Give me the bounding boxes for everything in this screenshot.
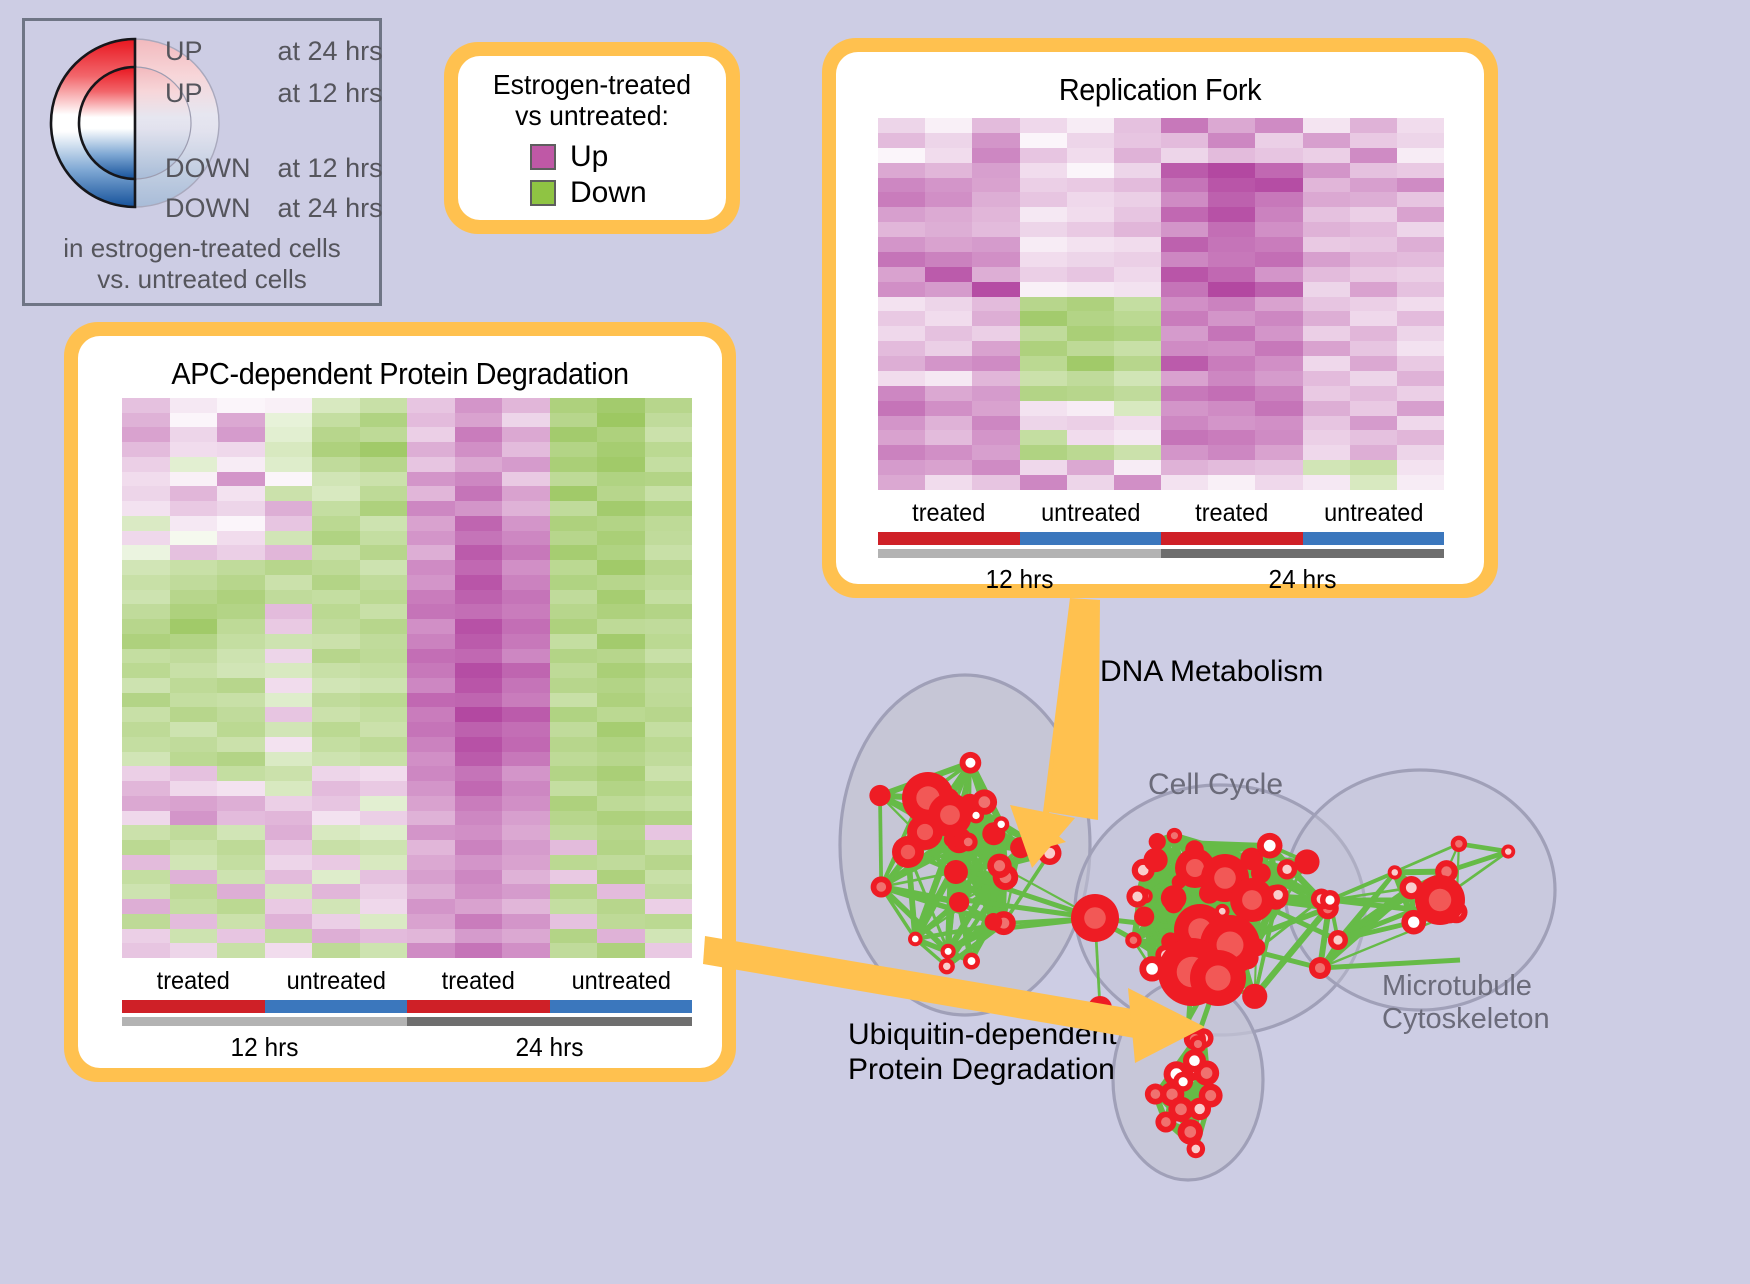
heatmap-cell <box>217 398 265 413</box>
heatmap-cell <box>550 752 598 767</box>
heatmap-cell <box>1350 311 1397 326</box>
network-node-core <box>1333 935 1342 944</box>
heatmap-cell <box>878 356 925 371</box>
heatmap-cell <box>925 118 972 133</box>
heatmap-cell <box>972 341 1019 356</box>
heatmap-cell <box>550 884 598 899</box>
heatmap-cell <box>407 531 455 546</box>
heatmap-cell <box>265 899 313 914</box>
heatmap-cell <box>455 634 503 649</box>
heatmap-cell <box>1161 430 1208 445</box>
heatmap-cell <box>217 649 265 664</box>
heatmap-cell <box>170 545 218 560</box>
heatmap-cell <box>312 707 360 722</box>
heatmap-cell <box>1208 475 1255 490</box>
network-node <box>944 860 968 884</box>
heatmap-cell <box>407 707 455 722</box>
heatmap-cell <box>1020 371 1067 386</box>
heatmap-cell <box>407 575 455 590</box>
heatmap-cell <box>1397 252 1444 267</box>
heatmap-cell <box>1067 207 1114 222</box>
network-node-core <box>1171 832 1178 839</box>
heatmap-cell <box>1397 460 1444 475</box>
heatmap-cell <box>645 545 693 560</box>
heatmap-cell <box>1397 118 1444 133</box>
heatmap-cell <box>925 192 972 207</box>
network-node-core <box>1406 882 1417 893</box>
heatmap-cell <box>550 442 598 457</box>
heatmap-cell <box>265 707 313 722</box>
heatmap-cell <box>597 472 645 487</box>
key-time-label: at 12 hrs <box>278 78 383 108</box>
time-24hrs-bar-segment <box>1161 549 1444 558</box>
network-node-core <box>994 860 1005 871</box>
heatmap-cell <box>1020 445 1067 460</box>
heatmap-cell <box>265 722 313 737</box>
heatmap-cell <box>597 590 645 605</box>
replication-fork-panel: Replication Fork treated untreated treat… <box>822 38 1498 598</box>
heatmap-cell <box>407 766 455 781</box>
heatmap-cell <box>407 840 455 855</box>
heatmap-cell <box>455 781 503 796</box>
heatmap-cell <box>550 634 598 649</box>
replication-fork-treatment-bar <box>878 532 1444 545</box>
heatmap-cell <box>265 649 313 664</box>
heatmap-cell <box>597 943 645 958</box>
heatmap-cell <box>597 693 645 708</box>
heatmap-cell <box>455 707 503 722</box>
heatmap-cell <box>502 825 550 840</box>
apc-panel-inner: APC-dependent Protein Degradation treate… <box>78 336 722 1068</box>
heatmap-cell <box>597 722 645 737</box>
heatmap-cell <box>878 326 925 341</box>
heatmap-cell <box>455 884 503 899</box>
heatmap-cell <box>360 752 408 767</box>
heatmap-cell <box>1067 163 1114 178</box>
heatmap-cell <box>360 722 408 737</box>
heatmap-cell <box>645 398 693 413</box>
heatmap-cell <box>265 943 313 958</box>
heatmap-cell <box>645 870 693 885</box>
network-node-core <box>1273 890 1283 900</box>
replication-fork-group-labels: treated untreated treated untreated <box>878 499 1444 528</box>
heatmap-cell <box>407 472 455 487</box>
heatmap-cell <box>645 413 693 428</box>
heatmap-cell <box>597 811 645 826</box>
heatmap-cell <box>1303 222 1350 237</box>
time-label: 12 hrs <box>131 1032 399 1063</box>
heatmap-cell <box>1114 252 1161 267</box>
heatmap-cell <box>1067 267 1114 282</box>
heatmap-cell <box>550 413 598 428</box>
heatmap-cell <box>1020 148 1067 163</box>
heatmap-cell <box>597 501 645 516</box>
heatmap-cell <box>1161 163 1208 178</box>
network-node-core <box>1429 889 1452 912</box>
heatmap-cell <box>217 560 265 575</box>
heatmap-cell <box>550 427 598 442</box>
heatmap-cell <box>1114 163 1161 178</box>
heatmap-cell <box>217 840 265 855</box>
heatmap-cell <box>360 575 408 590</box>
heatmap-cell <box>170 855 218 870</box>
heatmap-cell <box>878 178 925 193</box>
apc-treatment-bar <box>122 1000 692 1013</box>
heatmap-cell <box>1255 430 1302 445</box>
heatmap-cell <box>878 386 925 401</box>
network-node <box>985 913 1003 931</box>
heatmap-cell <box>645 796 693 811</box>
down-color-swatch <box>530 180 556 206</box>
heatmap-cell <box>1303 133 1350 148</box>
heatmap-cell <box>1020 207 1067 222</box>
heatmap-cell <box>1067 252 1114 267</box>
heatmap-cell <box>312 722 360 737</box>
heatmap-cell <box>925 267 972 282</box>
network-node-core <box>1264 840 1276 852</box>
heatmap-cell <box>122 590 170 605</box>
heatmap-cell <box>312 943 360 958</box>
heatmap-cell <box>972 356 1019 371</box>
heatmap-cell <box>1020 237 1067 252</box>
heatmap-cell <box>645 427 693 442</box>
network-node <box>1242 984 1267 1009</box>
heatmap-cell <box>170 619 218 634</box>
key-direction-label: DOWN <box>165 153 270 184</box>
heatmap-cell <box>1303 267 1350 282</box>
heatmap-cell <box>1161 192 1208 207</box>
heatmap-cell <box>122 870 170 885</box>
apc-time-bar <box>122 1017 692 1026</box>
heatmap-cell <box>455 427 503 442</box>
heatmap-cell <box>597 634 645 649</box>
heatmap-cell <box>360 486 408 501</box>
network-node <box>1088 996 1112 1020</box>
heatmap-cell <box>1397 148 1444 163</box>
heatmap-cell <box>502 575 550 590</box>
heatmap-cell <box>312 590 360 605</box>
heatmap-cell <box>1161 148 1208 163</box>
heatmap-cell <box>502 781 550 796</box>
key-direction-label: DOWN <box>165 193 270 224</box>
network-node-core <box>1205 965 1230 990</box>
heatmap-cell <box>1350 430 1397 445</box>
heatmap-cell <box>122 825 170 840</box>
heatmap-cell <box>597 870 645 885</box>
heatmap-cell <box>1114 416 1161 431</box>
heatmap-cell <box>1208 356 1255 371</box>
heatmap-cell <box>502 678 550 693</box>
heatmap-cell <box>360 501 408 516</box>
heatmap-cell <box>878 297 925 312</box>
heatmap-cell <box>1208 297 1255 312</box>
heatmap-cell <box>265 811 313 826</box>
heatmap-cell <box>1255 148 1302 163</box>
heatmap-cell <box>645 472 693 487</box>
heatmap-cell <box>925 475 972 490</box>
heatmap-cell <box>1350 237 1397 252</box>
heatmap-cell <box>1350 192 1397 207</box>
heatmap-cell <box>455 722 503 737</box>
heatmap-cell <box>597 825 645 840</box>
heatmap-cell <box>1255 386 1302 401</box>
heatmap-cell <box>645 649 693 664</box>
key-caption: in estrogen-treated cells vs. untreated … <box>25 233 379 294</box>
apc-time-labels: 12 hrs 24 hrs <box>122 1032 692 1063</box>
heatmap-cell <box>1208 460 1255 475</box>
heatmap-cell <box>1255 133 1302 148</box>
heatmap-cell <box>925 252 972 267</box>
heatmap-cell <box>170 531 218 546</box>
heatmap-cell <box>925 297 972 312</box>
heatmap-cell <box>502 398 550 413</box>
heatmap-cell <box>360 560 408 575</box>
heatmap-cell <box>878 401 925 416</box>
heatmap-cell <box>265 752 313 767</box>
heatmap-cell <box>360 884 408 899</box>
heatmap-cell <box>878 252 925 267</box>
group-label: treated <box>126 967 260 996</box>
heatmap-cell <box>455 501 503 516</box>
heatmap-cell <box>502 707 550 722</box>
heatmap-cell <box>217 575 265 590</box>
heatmap-cell <box>455 590 503 605</box>
heatmap-cell <box>1067 237 1114 252</box>
heatmap-cell <box>1067 282 1114 297</box>
heatmap-cell <box>1020 386 1067 401</box>
heatmap-cell <box>1350 475 1397 490</box>
heatmap-cell <box>217 486 265 501</box>
heatmap-cell <box>360 899 408 914</box>
heatmap-cell <box>925 237 972 252</box>
heatmap-cell <box>265 590 313 605</box>
heatmap-cell <box>1114 222 1161 237</box>
heatmap-cell <box>312 619 360 634</box>
heatmap-cell <box>502 649 550 664</box>
cluster-label-microtubule-cytoskeleton: Microtubule Cytoskeleton <box>1382 970 1550 1037</box>
heatmap-cell <box>1303 460 1350 475</box>
heatmap-cell <box>925 341 972 356</box>
heatmap-cell <box>265 575 313 590</box>
heatmap-cell <box>170 516 218 531</box>
heatmap-cell <box>1397 371 1444 386</box>
heatmap-cell <box>265 531 313 546</box>
heatmap-cell <box>170 707 218 722</box>
heatmap-cell <box>122 693 170 708</box>
heatmap-cell <box>1067 222 1114 237</box>
group-label: untreated <box>1024 499 1157 528</box>
heatmap-cell <box>1208 341 1255 356</box>
heatmap-cell <box>878 207 925 222</box>
heatmap-cell <box>170 914 218 929</box>
heatmap-cell <box>360 914 408 929</box>
heatmap-cell <box>122 781 170 796</box>
heatmap-cell <box>217 663 265 678</box>
heatmap-cell <box>972 475 1019 490</box>
heatmap-cell <box>122 678 170 693</box>
heatmap-cell <box>1067 133 1114 148</box>
heatmap-cell <box>1114 267 1161 282</box>
heatmap-cell <box>1067 430 1114 445</box>
heatmap-cell <box>217 472 265 487</box>
heatmap-cell <box>1397 356 1444 371</box>
network-node-core <box>1201 1067 1213 1079</box>
heatmap-cell <box>502 737 550 752</box>
group-label: treated <box>882 499 1015 528</box>
heatmap-cell <box>1303 207 1350 222</box>
heatmap-cell <box>1161 416 1208 431</box>
heatmap-cell <box>407 663 455 678</box>
heatmap-cell <box>170 929 218 944</box>
network-node-core <box>1315 963 1325 973</box>
heatmap-cell <box>1350 207 1397 222</box>
heatmap-cell <box>550 472 598 487</box>
heatmap-cell <box>1161 326 1208 341</box>
heatmap-cell <box>407 649 455 664</box>
heatmap-cell <box>972 163 1019 178</box>
group-label: treated <box>1165 499 1298 528</box>
heatmap-cell <box>597 427 645 442</box>
heatmap-cell <box>645 722 693 737</box>
heatmap-cell <box>360 531 408 546</box>
heatmap-cell <box>1114 148 1161 163</box>
key-caption-line1: in estrogen-treated cells <box>25 233 379 264</box>
heatmap-cell <box>360 427 408 442</box>
heatmap-cell <box>972 192 1019 207</box>
heatmap-cell <box>502 442 550 457</box>
updown-legend-panel: Estrogen-treated vs untreated: Up Down <box>444 42 740 234</box>
heatmap-cell <box>550 929 598 944</box>
heatmap-cell <box>265 413 313 428</box>
heatmap-cell <box>645 884 693 899</box>
heatmap-cell <box>170 575 218 590</box>
heatmap-cell <box>645 604 693 619</box>
heatmap-cell <box>312 796 360 811</box>
heatmap-cell <box>1397 326 1444 341</box>
heatmap-cell <box>170 427 218 442</box>
network-node-core <box>1505 848 1511 854</box>
heatmap-cell <box>1208 207 1255 222</box>
heatmap-cell <box>597 531 645 546</box>
heatmap-cell <box>217 545 265 560</box>
heatmap-cell <box>597 516 645 531</box>
legend-item-label: Up <box>570 140 608 174</box>
heatmap-cell <box>597 855 645 870</box>
heatmap-cell <box>455 560 503 575</box>
heatmap-cell <box>360 457 408 472</box>
heatmap-cell <box>170 472 218 487</box>
heatmap-cell <box>407 722 455 737</box>
heatmap-cell <box>1161 237 1208 252</box>
heatmap-cell <box>1114 237 1161 252</box>
heatmap-cell <box>170 766 218 781</box>
heatmap-cell <box>597 796 645 811</box>
heatmap-cell <box>265 929 313 944</box>
heatmap-cell <box>455 766 503 781</box>
heatmap-cell <box>925 356 972 371</box>
heatmap-cell <box>1303 475 1350 490</box>
heatmap-cell <box>1114 341 1161 356</box>
heatmap-cell <box>1020 401 1067 416</box>
heatmap-cell <box>407 516 455 531</box>
heatmap-cell <box>455 649 503 664</box>
heatmap-cell <box>1161 207 1208 222</box>
heatmap-cell <box>455 796 503 811</box>
heatmap-cell <box>1114 430 1161 445</box>
heatmap-cell <box>360 604 408 619</box>
heatmap-cell <box>1067 401 1114 416</box>
heatmap-cell <box>217 855 265 870</box>
heatmap-cell <box>550 737 598 752</box>
heatmap-cell <box>1397 297 1444 312</box>
heatmap-cell <box>1161 311 1208 326</box>
heatmap-cell <box>597 929 645 944</box>
heatmap-cell <box>502 472 550 487</box>
legend-inner: Estrogen-treated vs untreated: Up Down <box>458 56 726 220</box>
heatmap-cell <box>122 855 170 870</box>
heatmap-cell <box>1208 192 1255 207</box>
heatmap-cell <box>550 516 598 531</box>
replication-fork-heatmap <box>878 118 1444 490</box>
heatmap-cell <box>1161 282 1208 297</box>
heatmap-cell <box>1397 133 1444 148</box>
apc-protein-degradation-panel: APC-dependent Protein Degradation treate… <box>64 322 736 1082</box>
heatmap-cell <box>360 663 408 678</box>
network-node-core <box>1192 1145 1201 1154</box>
heatmap-cell <box>360 811 408 826</box>
heatmap-cell <box>597 560 645 575</box>
heatmap-cell <box>360 693 408 708</box>
group-label: untreated <box>1307 499 1440 528</box>
heatmap-cell <box>1255 118 1302 133</box>
heatmap-cell <box>878 341 925 356</box>
heatmap-cell <box>878 133 925 148</box>
heatmap-cell <box>1397 207 1444 222</box>
heatmap-cell <box>122 840 170 855</box>
heatmap-cell <box>645 693 693 708</box>
untreated-bar-segment <box>1303 532 1445 545</box>
heatmap-cell <box>1350 163 1397 178</box>
heatmap-cell <box>1397 163 1444 178</box>
heatmap-cell <box>1350 371 1397 386</box>
heatmap-cell <box>122 575 170 590</box>
heatmap-cell <box>1303 430 1350 445</box>
heatmap-cell <box>1255 297 1302 312</box>
heatmap-cell <box>265 457 313 472</box>
heatmap-cell <box>1020 118 1067 133</box>
heatmap-cell <box>122 501 170 516</box>
heatmap-cell <box>455 929 503 944</box>
heatmap-cell <box>597 457 645 472</box>
network-node-core <box>968 957 976 965</box>
group-label: untreated <box>269 967 403 996</box>
network-node-core <box>1151 1089 1161 1099</box>
untreated-bar-segment <box>1020 532 1162 545</box>
heatmap-cell <box>1020 133 1067 148</box>
heatmap-cell <box>645 560 693 575</box>
heatmap-cell <box>502 457 550 472</box>
network-node-core <box>1205 1090 1216 1101</box>
heatmap-cell <box>597 914 645 929</box>
heatmap-cell <box>1397 430 1444 445</box>
heatmap-cell <box>360 766 408 781</box>
heatmap-cell <box>312 825 360 840</box>
network-node-core <box>901 845 915 859</box>
heatmap-cell <box>645 752 693 767</box>
heatmap-cell <box>455 545 503 560</box>
heatmap-cell <box>122 737 170 752</box>
heatmap-cell <box>217 796 265 811</box>
